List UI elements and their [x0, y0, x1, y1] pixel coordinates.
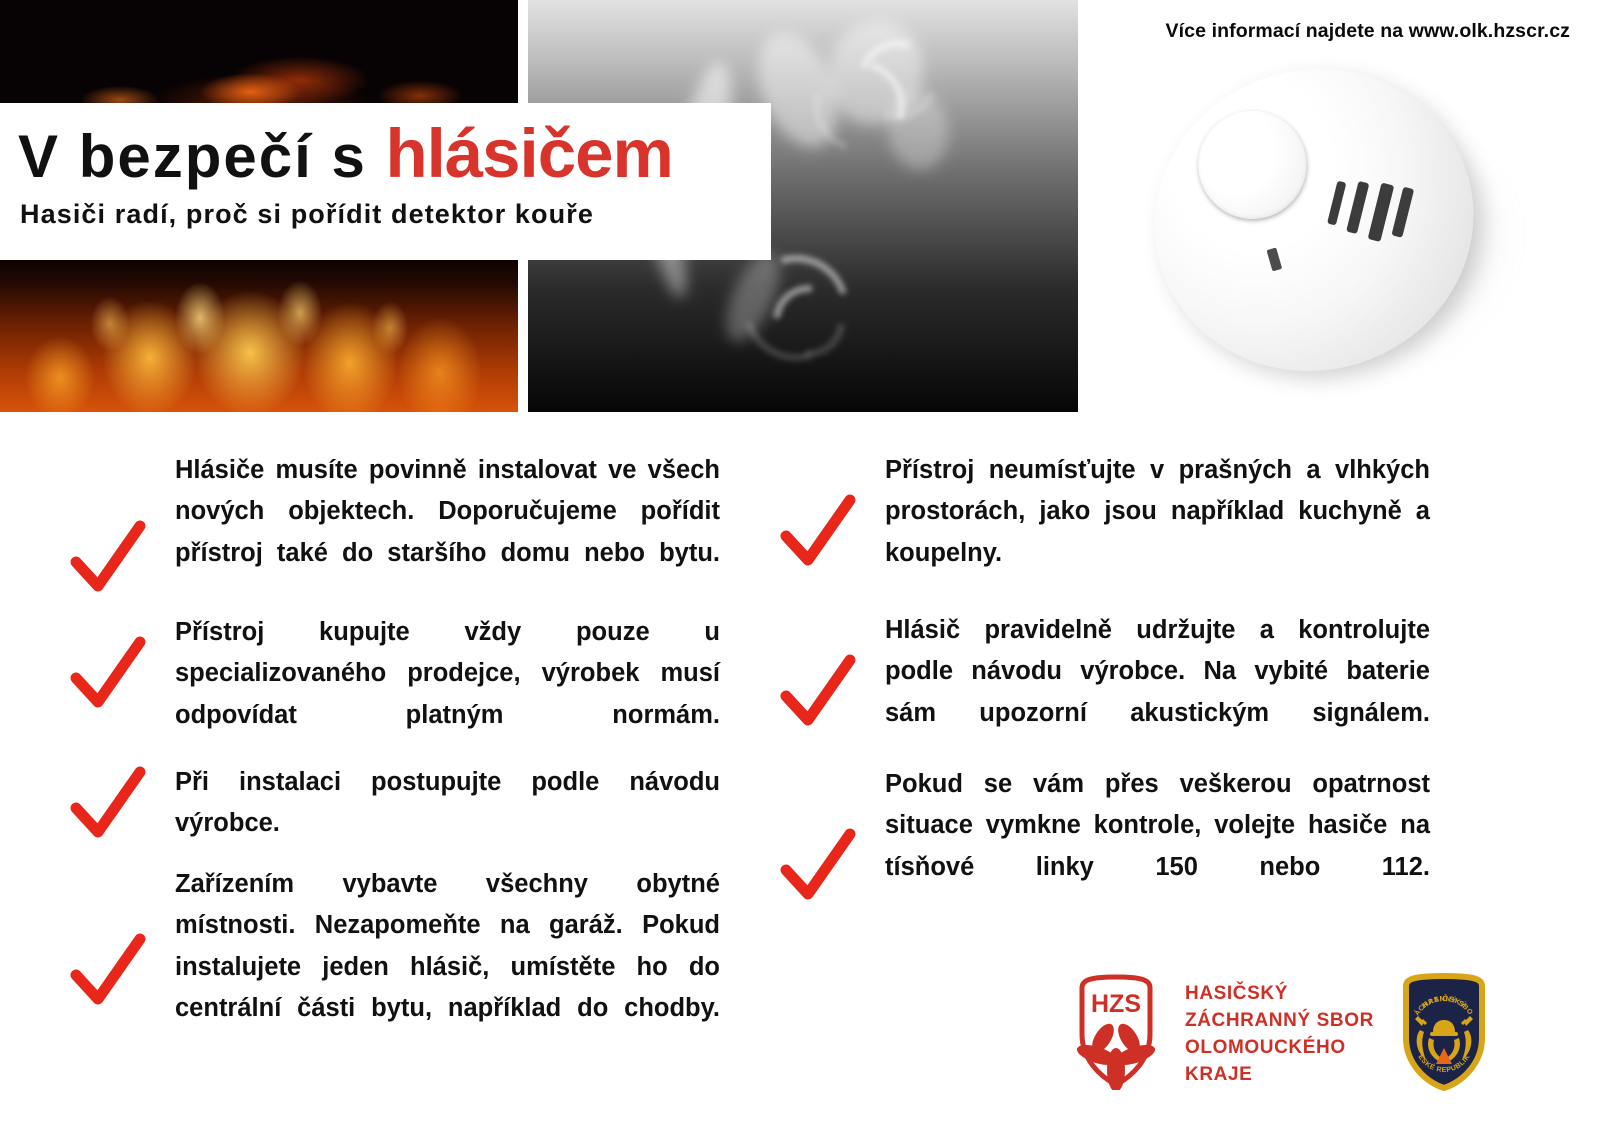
- hzs-name-line-2: ZÁCHRANNÝ SBOR: [1185, 1007, 1374, 1034]
- tip-text: Hlásiče musíte povinně instalovat ve vše…: [175, 450, 720, 615]
- title-text-part: V bezpečí s: [18, 123, 385, 190]
- tip-text: Hlásič pravidelně udržujte a kontrolujte…: [885, 610, 1430, 775]
- hzs-cr-badge: HASIČSKÝ ZÁCHRANNÝ SBOR ZÁCHRANNÝ SBOR Č…: [1396, 972, 1492, 1092]
- header-banner: V bezpečí s hlásičem Hasiči radí, proč s…: [0, 0, 1600, 412]
- hzs-name-line-3: OLOMOUCKÉHO: [1185, 1034, 1374, 1061]
- detector-test-button: [1186, 98, 1320, 232]
- fire-embers-top: [0, 0, 518, 104]
- hzs-shield-text: HZS: [1091, 990, 1141, 1018]
- tip-text: Pokud se vám přes veškerou opatrnost sit…: [885, 764, 1430, 929]
- detector-led-indicator: [1267, 248, 1283, 272]
- hzs-name-line-4: KRAJE: [1185, 1061, 1374, 1088]
- page-subtitle: Hasiči radí, proč si pořídit detektor ko…: [20, 199, 594, 230]
- tip-text: Přístroj kupujte vždy pouze u specializo…: [175, 612, 720, 777]
- page-title: V bezpečí s hlásičem: [18, 119, 673, 188]
- checkmark-icon: [68, 634, 148, 714]
- smoke-detector-photo-panel: [1078, 0, 1600, 412]
- title-banner: V bezpečí s hlásičem Hasiči radí, proč s…: [0, 103, 771, 260]
- fire-flames-bottom: [0, 258, 518, 412]
- tip-text: Přístroj neumísťujte v prašných a vlhkýc…: [885, 450, 1430, 615]
- checkmark-icon: [778, 492, 858, 572]
- tip-text: Zařízením vybavte všechny obytné místnos…: [175, 864, 720, 1070]
- checkmark-icon: [68, 518, 148, 598]
- footer-logos: HZS HASIČSKÝ ZÁCHRANNÝ SBOR OLOMOUCKÉHO …: [1070, 972, 1520, 1097]
- hzs-name-line-1: HASIČSKÝ: [1185, 980, 1374, 1007]
- hzs-shield-logo: HZS: [1070, 972, 1162, 1090]
- tips-section: Hlásiče musíte povinně instalovat ve vše…: [0, 412, 1600, 932]
- checkmark-icon: [778, 652, 858, 732]
- hzs-wordmark: HASIČSKÝ ZÁCHRANNÝ SBOR OLOMOUCKÉHO KRAJ…: [1185, 980, 1374, 1089]
- title-accent-word: hlásičem: [385, 115, 672, 192]
- checkmark-icon: [68, 764, 148, 844]
- website-note: Více informací najdete na www.olk.hzscr.…: [1166, 20, 1570, 43]
- checkmark-icon: [778, 826, 858, 906]
- checkmark-icon: [68, 931, 148, 1011]
